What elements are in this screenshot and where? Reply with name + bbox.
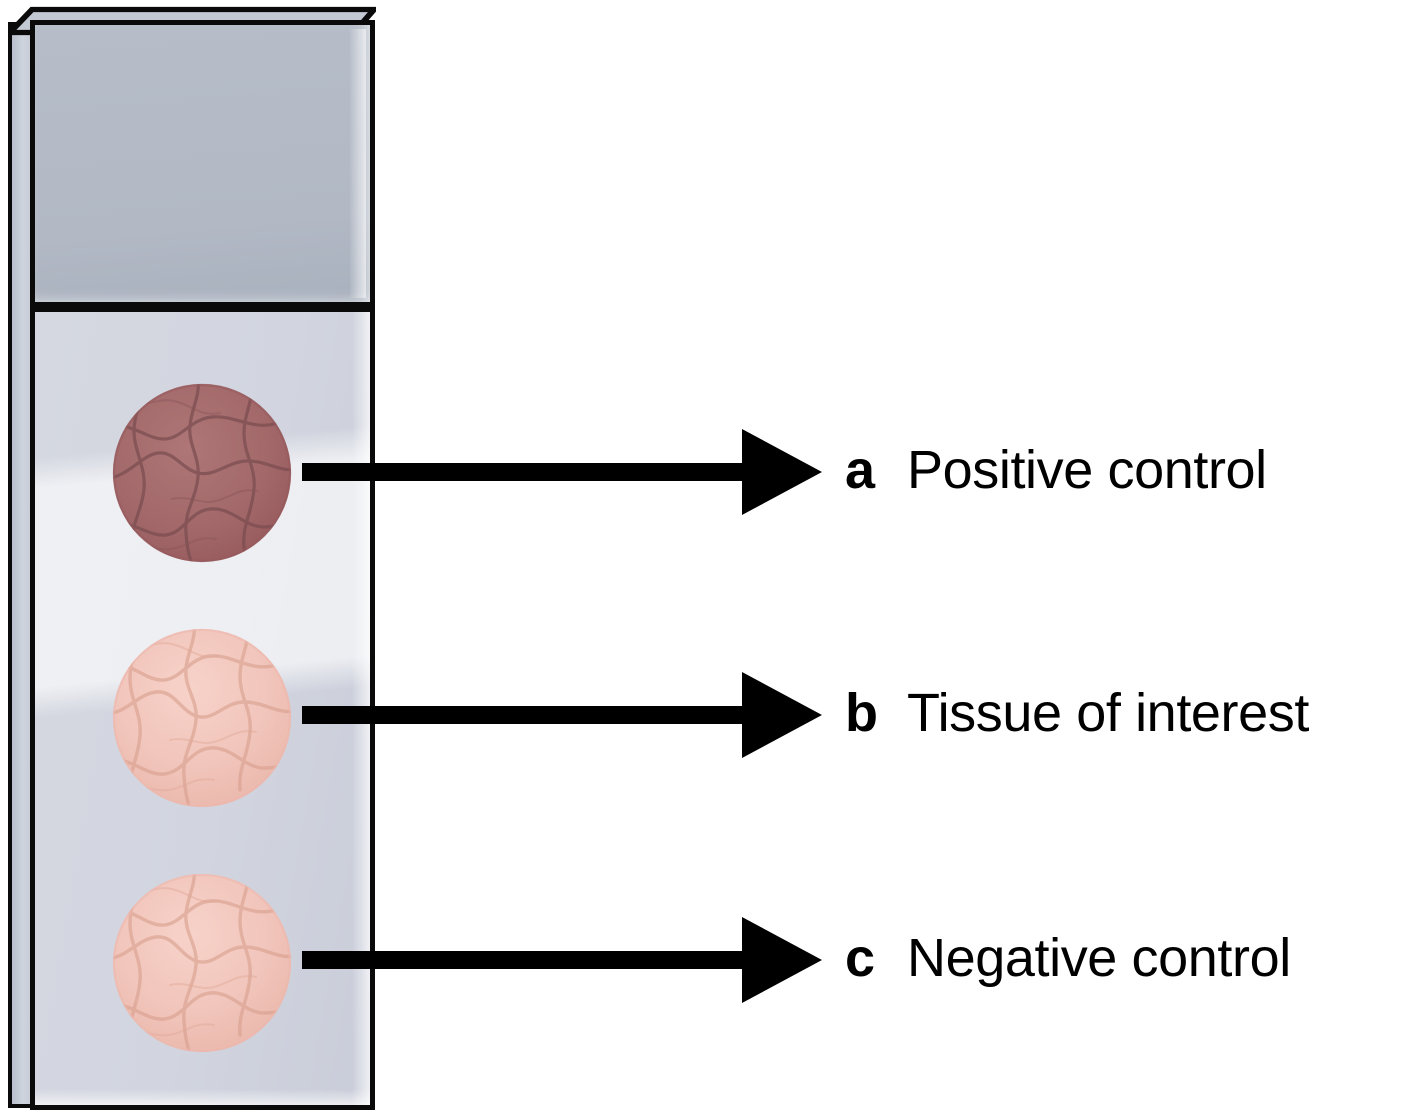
positive-control-tissue	[112, 383, 292, 563]
annotation-text-positive-control: Positive control	[907, 443, 1267, 497]
negative-control-tissue	[112, 873, 292, 1053]
annotation-label-a: a Positive control	[845, 443, 1267, 497]
glass-bottom-highlight	[35, 1089, 370, 1105]
annotation-label-b: b Tissue of interest	[845, 686, 1309, 740]
frost-highlight	[350, 29, 366, 298]
arrow-positive-control	[302, 426, 822, 518]
annotation-label-c: c Negative control	[845, 931, 1291, 985]
annotation-letter-b: b	[845, 686, 907, 740]
annotation-text-tissue-of-interest: Tissue of interest	[907, 686, 1309, 740]
annotation-text-negative-control: Negative control	[907, 931, 1291, 985]
tissue-of-interest-section	[112, 628, 292, 808]
frosted-label-area	[30, 20, 375, 307]
arrow-tissue-of-interest	[302, 669, 822, 761]
figure-canvas: a Positive control b Tissue of interest …	[0, 0, 1416, 1118]
annotation-letter-a: a	[845, 443, 907, 497]
arrow-negative-control	[302, 914, 822, 1006]
annotation-letter-c: c	[845, 931, 907, 985]
